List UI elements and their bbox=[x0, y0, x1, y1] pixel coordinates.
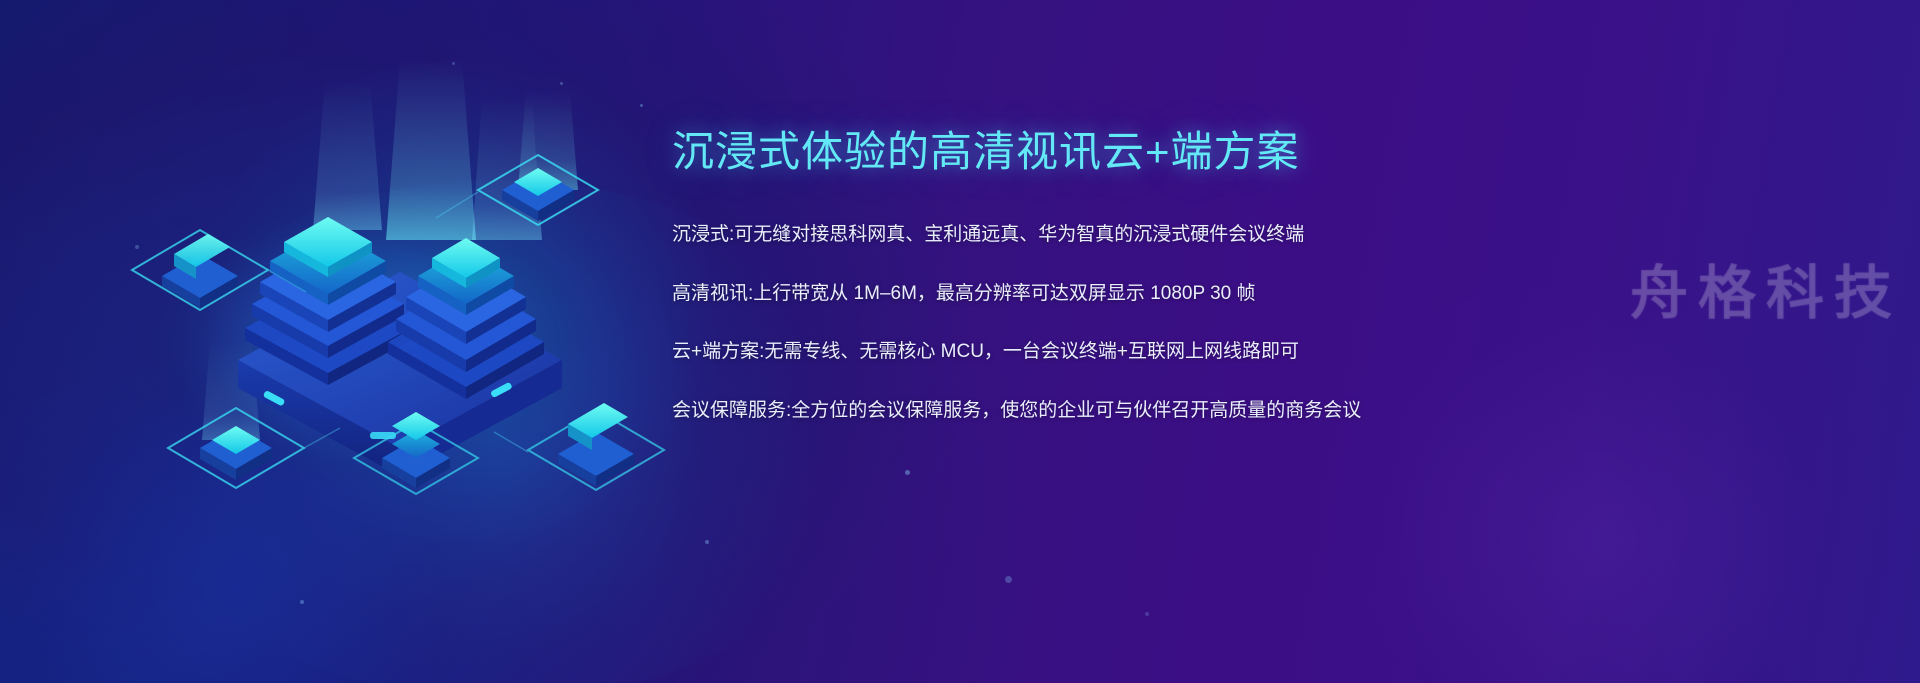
feature-item-hd-video: 高清视讯:上行带宽从 1M–6M，最高分辨率可达双屏显示 1080P 30 帧 bbox=[672, 281, 1792, 308]
feature-item-support: 会议保障服务:全方位的会议保障服务，使您的企业可与伙伴召开高质量的商务会议 bbox=[672, 398, 1792, 425]
banner-copy: 沉浸式体验的高清视讯云+端方案 沉浸式:可无缝对接思科网真、宝利通远真、华为智真… bbox=[672, 128, 1792, 425]
feature-list: 沉浸式:可无缝对接思科网真、宝利通远真、华为智真的沉浸式硬件会议终端 高清视讯:… bbox=[672, 222, 1792, 424]
banner-headline: 沉浸式体验的高清视讯云+端方案 bbox=[672, 128, 1792, 176]
feature-item-immersive: 沉浸式:可无缝对接思科网真、宝利通远真、华为智真的沉浸式硬件会议终端 bbox=[672, 222, 1792, 249]
hero-banner: 沉浸式体验的高清视讯云+端方案 沉浸式:可无缝对接思科网真、宝利通远真、华为智真… bbox=[0, 0, 1920, 683]
feature-item-cloud-edge: 云+端方案:无需专线、无需核心 MCU，一台会议终端+互联网上网线路即可 bbox=[672, 339, 1792, 366]
isometric-server-illustration bbox=[70, 40, 690, 560]
